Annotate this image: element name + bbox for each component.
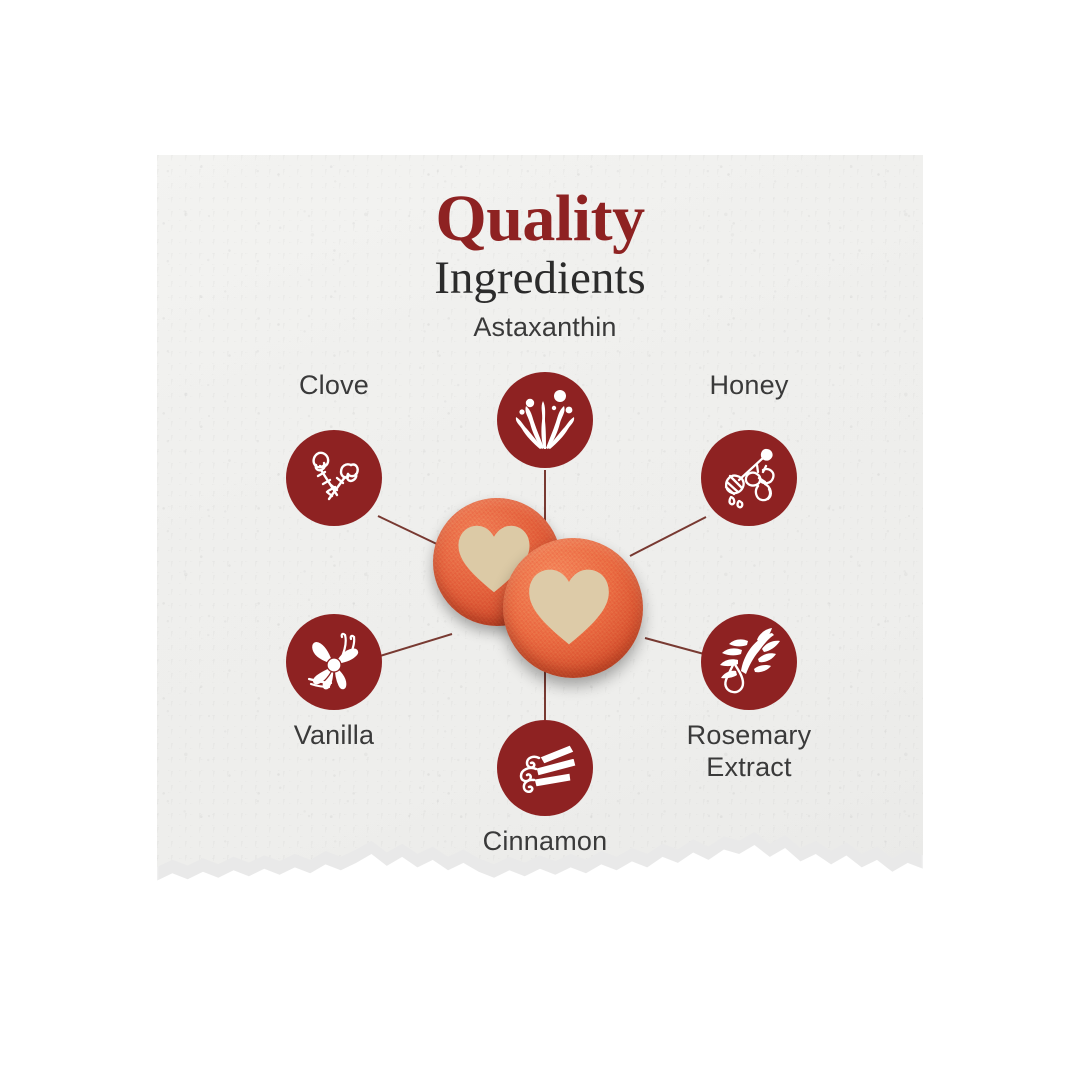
ingredient-label: Honey	[619, 370, 879, 402]
cinnamon-sticks-icon	[508, 731, 582, 805]
vanilla-icon-circle[interactable]	[286, 614, 382, 710]
ingredient-label: Astaxanthin	[415, 312, 675, 344]
infographic-canvas: Quality Ingredients Astaxanthin	[0, 0, 1080, 1080]
ingredient-label-line1: Rosemary	[619, 720, 879, 752]
ingredient-label-line2: Extract	[619, 752, 879, 784]
astaxanthin-icon-circle[interactable]	[497, 372, 593, 468]
clove-icon-circle[interactable]	[286, 430, 382, 526]
rosemary-icon-circle[interactable]	[701, 614, 797, 710]
honey-icon-circle[interactable]	[701, 430, 797, 526]
ingredient-label: Clove	[204, 370, 464, 402]
rosemary-sprig-droplet-icon	[712, 625, 786, 699]
product-image	[415, 490, 665, 690]
clove-bud-icon	[299, 443, 369, 513]
tablet-right	[503, 538, 643, 678]
cinnamon-icon-circle[interactable]	[497, 720, 593, 816]
heart-motif	[527, 568, 611, 646]
vanilla-flower-icon	[297, 625, 371, 699]
algae-icon	[508, 383, 582, 457]
honey-dipper-bee-icon	[713, 442, 785, 514]
ingredient-label: Vanilla	[204, 720, 464, 752]
ingredient-label: Cinnamon	[415, 826, 675, 858]
ingredient-label: Rosemary Extract	[619, 720, 879, 784]
